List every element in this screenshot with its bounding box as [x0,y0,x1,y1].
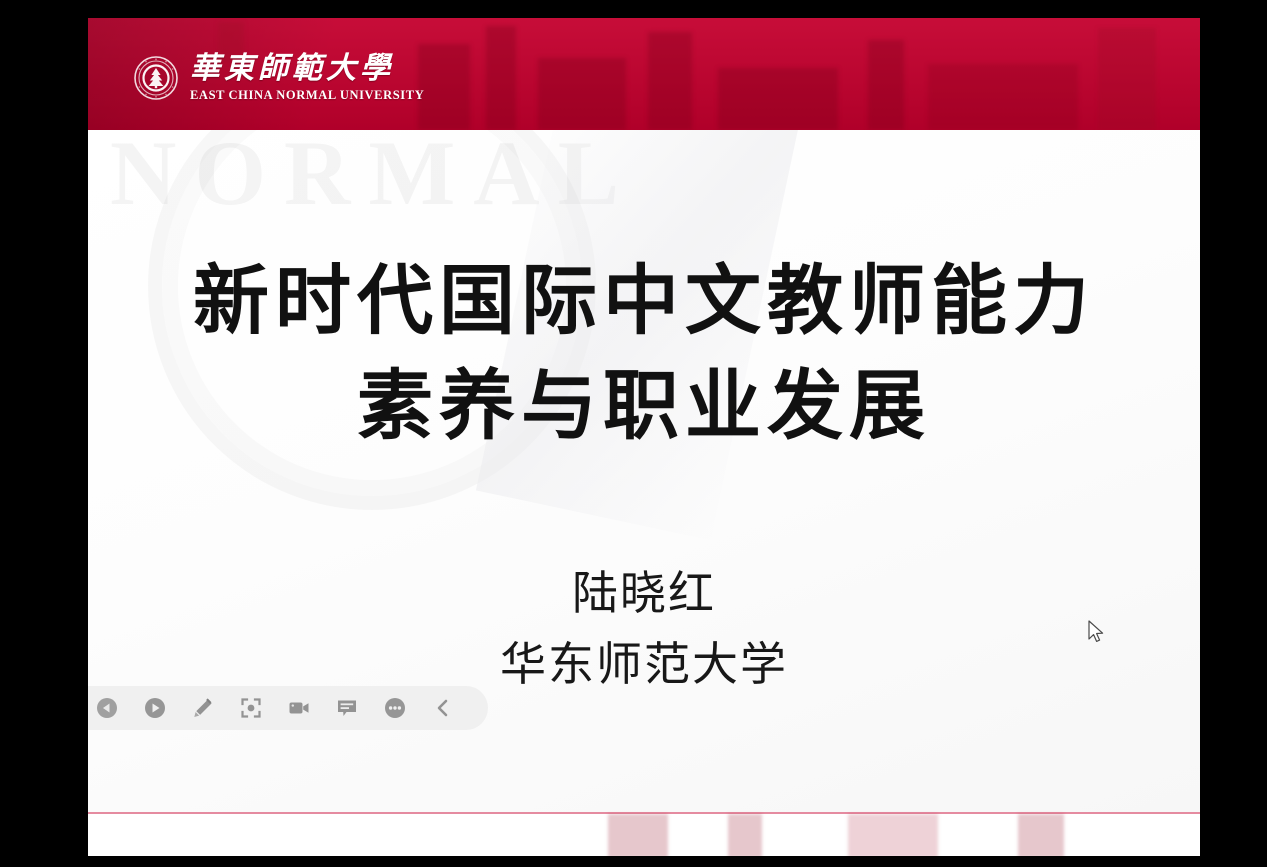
footer-texture-shape [848,814,938,856]
slide-title-line-2: 素养与职业发展 [88,355,1200,460]
university-logo-lockup: 華東師範大學 EAST CHINA NORMAL UNIVERSITY [134,54,424,102]
chevron-left-icon[interactable] [430,695,456,721]
header-texture-shape [928,64,1078,130]
header-texture-shape [538,58,626,130]
header-texture-shape [648,32,692,130]
university-name-chinese: 華東師範大學 [190,54,424,84]
header-texture-shape [1098,28,1156,130]
header-texture-shape [718,68,838,130]
university-name-block: 華東師範大學 EAST CHINA NORMAL UNIVERSITY [190,54,424,102]
footer-texture-shape [1018,814,1064,856]
header-texture-shape [868,40,904,130]
video-player-frame: 華東師範大學 EAST CHINA NORMAL UNIVERSITY NORM… [0,0,1267,867]
header-texture-shape [486,26,516,130]
slide-footer-band [88,812,1200,856]
footer-texture-shape [728,814,762,856]
footer-texture-shape [608,814,668,856]
presenter-name: 陆晓红 [88,558,1200,629]
university-name-english: EAST CHINA NORMAL UNIVERSITY [190,89,424,102]
previous-slide-button[interactable] [94,695,120,721]
pencil-icon[interactable] [190,695,216,721]
ecnu-seal-emblem-icon [134,56,178,100]
player-toolbar[interactable] [88,686,488,730]
video-camera-icon[interactable] [286,695,312,721]
watermark-wordmark: NORMAL [110,130,637,226]
presentation-slide: 華東師範大學 EAST CHINA NORMAL UNIVERSITY NORM… [88,18,1200,856]
focus-frame-icon[interactable] [238,695,264,721]
header-texture-shape [418,44,470,130]
chat-bubble-icon[interactable] [334,695,360,721]
presenter-block: 陆晓红 华东师范大学 [88,558,1200,701]
play-button[interactable] [142,695,168,721]
slide-title-line-1: 新时代国际中文教师能力 [88,250,1200,355]
slide-title-block: 新时代国际中文教师能力 素养与职业发展 [88,250,1200,460]
ellipsis-circle-icon[interactable] [382,695,408,721]
